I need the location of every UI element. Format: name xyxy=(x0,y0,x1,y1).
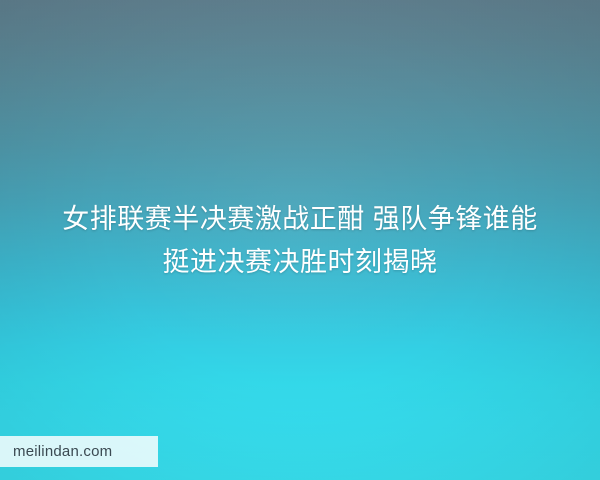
watermark-label: meilindan.com xyxy=(13,443,112,460)
watermark-badge: meilindan.com xyxy=(0,436,158,467)
image-canvas: 女排联赛半决赛激战正酣 强队争锋谁能 挺进决赛决胜时刻揭晓 meilindan.… xyxy=(0,0,600,480)
headline-line-2: 挺进决赛决胜时刻揭晓 xyxy=(24,241,576,284)
headline-line-1: 女排联赛半决赛激战正酣 强队争锋谁能 xyxy=(24,198,576,241)
headline-text: 女排联赛半决赛激战正酣 强队争锋谁能 挺进决赛决胜时刻揭晓 xyxy=(0,198,600,284)
